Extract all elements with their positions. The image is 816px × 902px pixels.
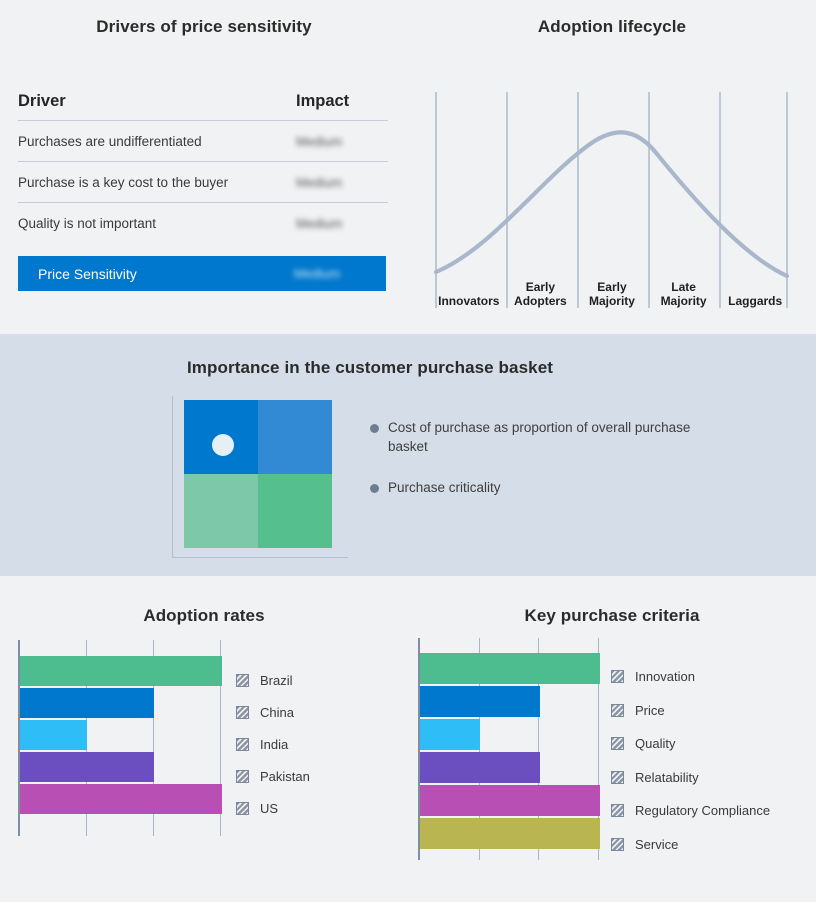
bar-group <box>420 638 600 860</box>
bar-price <box>420 686 540 717</box>
label-line-1: Late <box>648 280 720 294</box>
bottom-band: Adoption rates Brazil <box>0 576 816 902</box>
summary-impact-value: Medium <box>294 266 386 281</box>
legend-item-china: China <box>236 696 310 728</box>
quadrant-bottom-left <box>184 474 258 548</box>
legend-label: Purchase criticality <box>388 478 501 497</box>
impact-value: Medium <box>296 175 388 190</box>
label-line-2: Adopters <box>505 294 577 308</box>
lifecycle-label-laggards: Laggards <box>719 294 791 310</box>
purchase-basket-matrix <box>172 396 348 558</box>
matrix-y-axis <box>172 396 173 558</box>
legend-item: Cost of purchase as proportion of overal… <box>370 418 700 456</box>
key-purchase-criteria-panel: Key purchase criteria Innov <box>408 576 816 902</box>
lifecycle-label-late-majority: Late Majority <box>648 280 720 310</box>
lifecycle-label-early-adopters: Early Adopters <box>505 280 577 310</box>
summary-label: Price Sensitivity <box>38 266 294 282</box>
legend-item-india: India <box>236 728 310 760</box>
table-row: Purchase is a key cost to the buyer Medi… <box>18 161 388 202</box>
legend-item-service: Service <box>611 828 770 862</box>
bar-quality <box>420 719 480 750</box>
column-header-driver: Driver <box>18 92 296 111</box>
legend-item-innovation: Innovation <box>611 660 770 694</box>
adoption-rates-panel: Adoption rates Brazil <box>0 576 408 902</box>
drivers-panel-title: Drivers of price sensitivity <box>0 17 408 37</box>
table-row: Quality is not important Medium <box>18 202 388 243</box>
legend-label: China <box>260 705 294 720</box>
bar-brazil <box>20 656 222 686</box>
purchase-basket-panel: Importance in the customer purchase bask… <box>0 334 816 576</box>
legend-item-price: Price <box>611 694 770 728</box>
purchase-basket-legend: Cost of purchase as proportion of overal… <box>370 418 700 519</box>
bar-china <box>20 688 154 718</box>
hatch-swatch-icon <box>611 771 624 784</box>
hatch-swatch-icon <box>236 706 249 719</box>
hatch-swatch-icon <box>236 674 249 687</box>
legend-item-quality: Quality <box>611 727 770 761</box>
key-criteria-legend: Innovation Price Quality Relatability Re… <box>611 660 770 861</box>
driver-label: Quality is not important <box>18 216 296 231</box>
column-header-impact: Impact <box>296 92 388 111</box>
position-marker-dot <box>212 434 234 456</box>
lifecycle-category-labels: Innovators Early Adopters Early Majority… <box>433 280 791 310</box>
label-line-1: Early <box>505 280 577 294</box>
drivers-table: Driver Impact Purchases are undifferenti… <box>18 92 388 291</box>
legend-item-pakistan: Pakistan <box>236 760 310 792</box>
drivers-panel: Drivers of price sensitivity Driver Impa… <box>0 0 408 334</box>
hatch-swatch-icon <box>611 670 624 683</box>
purchase-basket-title: Importance in the customer purchase bask… <box>0 358 740 378</box>
bar-relatability <box>420 752 540 783</box>
quadrant-top-right <box>258 400 332 474</box>
legend-label: Innovation <box>635 669 695 684</box>
impact-value: Medium <box>296 134 388 149</box>
bar-innovation <box>420 653 600 684</box>
adoption-lifecycle-title: Adoption lifecycle <box>408 17 816 37</box>
hatch-swatch-icon <box>611 704 624 717</box>
price-sensitivity-summary-row: Price Sensitivity Medium <box>18 256 386 291</box>
legend-label: Regulatory Compliance <box>635 803 770 818</box>
quadrant-bottom-right <box>258 474 332 548</box>
bar-service <box>420 818 600 849</box>
legend-label: Service <box>635 837 678 852</box>
adoption-rates-legend: Brazil China India Pakistan US <box>236 664 310 824</box>
legend-label: Cost of purchase as proportion of overal… <box>388 418 700 456</box>
driver-label: Purchase is a key cost to the buyer <box>18 175 296 190</box>
lifecycle-label-innovators: Innovators <box>433 294 505 310</box>
matrix-quadrants <box>184 400 332 548</box>
bar-group <box>20 640 222 836</box>
label-line-2: Majority <box>576 294 648 308</box>
legend-label: Pakistan <box>260 769 310 784</box>
hatch-swatch-icon <box>611 838 624 851</box>
adoption-lifecycle-chart: Innovators Early Adopters Early Majority… <box>433 80 791 310</box>
hatch-swatch-icon <box>236 770 249 783</box>
legend-label: Quality <box>635 736 675 751</box>
label-line-2: Innovators <box>433 294 505 308</box>
bullet-icon <box>370 424 379 433</box>
adoption-rates-chart <box>18 640 222 836</box>
legend-item-relatability: Relatability <box>611 761 770 795</box>
bar-us <box>20 784 222 814</box>
legend-label: US <box>260 801 278 816</box>
label-line-1: Early <box>576 280 648 294</box>
adoption-bell-curve <box>436 132 787 276</box>
legend-label: Price <box>635 703 665 718</box>
hatch-swatch-icon <box>611 737 624 750</box>
drivers-table-header: Driver Impact <box>18 92 388 120</box>
bar-india <box>20 720 87 750</box>
legend-item-regulatory-compliance: Regulatory Compliance <box>611 794 770 828</box>
key-criteria-chart <box>418 638 600 860</box>
bar-pakistan <box>20 752 154 782</box>
bar-regulatory-compliance <box>420 785 600 816</box>
lifecycle-curve-svg <box>433 80 791 310</box>
legend-label: India <box>260 737 288 752</box>
label-line-2: Laggards <box>719 294 791 308</box>
legend-label: Relatability <box>635 770 699 785</box>
impact-value: Medium <box>296 216 388 231</box>
legend-label: Brazil <box>260 673 293 688</box>
legend-item-brazil: Brazil <box>236 664 310 696</box>
infographic-page: Drivers of price sensitivity Driver Impa… <box>0 0 816 902</box>
hatch-swatch-icon <box>611 804 624 817</box>
bullet-icon <box>370 484 379 493</box>
hatch-swatch-icon <box>236 738 249 751</box>
top-band: Drivers of price sensitivity Driver Impa… <box>0 0 816 334</box>
lifecycle-label-early-majority: Early Majority <box>576 280 648 310</box>
hatch-swatch-icon <box>236 802 249 815</box>
table-row: Purchases are undifferentiated Medium <box>18 120 388 161</box>
adoption-rates-title: Adoption rates <box>0 606 408 626</box>
key-purchase-criteria-title: Key purchase criteria <box>408 606 816 626</box>
adoption-lifecycle-panel: Adoption lifecycle Innovators <box>408 0 816 334</box>
label-line-2: Majority <box>648 294 720 308</box>
legend-item-us: US <box>236 792 310 824</box>
driver-label: Purchases are undifferentiated <box>18 134 296 149</box>
legend-item: Purchase criticality <box>370 478 700 497</box>
matrix-x-axis <box>172 557 348 558</box>
